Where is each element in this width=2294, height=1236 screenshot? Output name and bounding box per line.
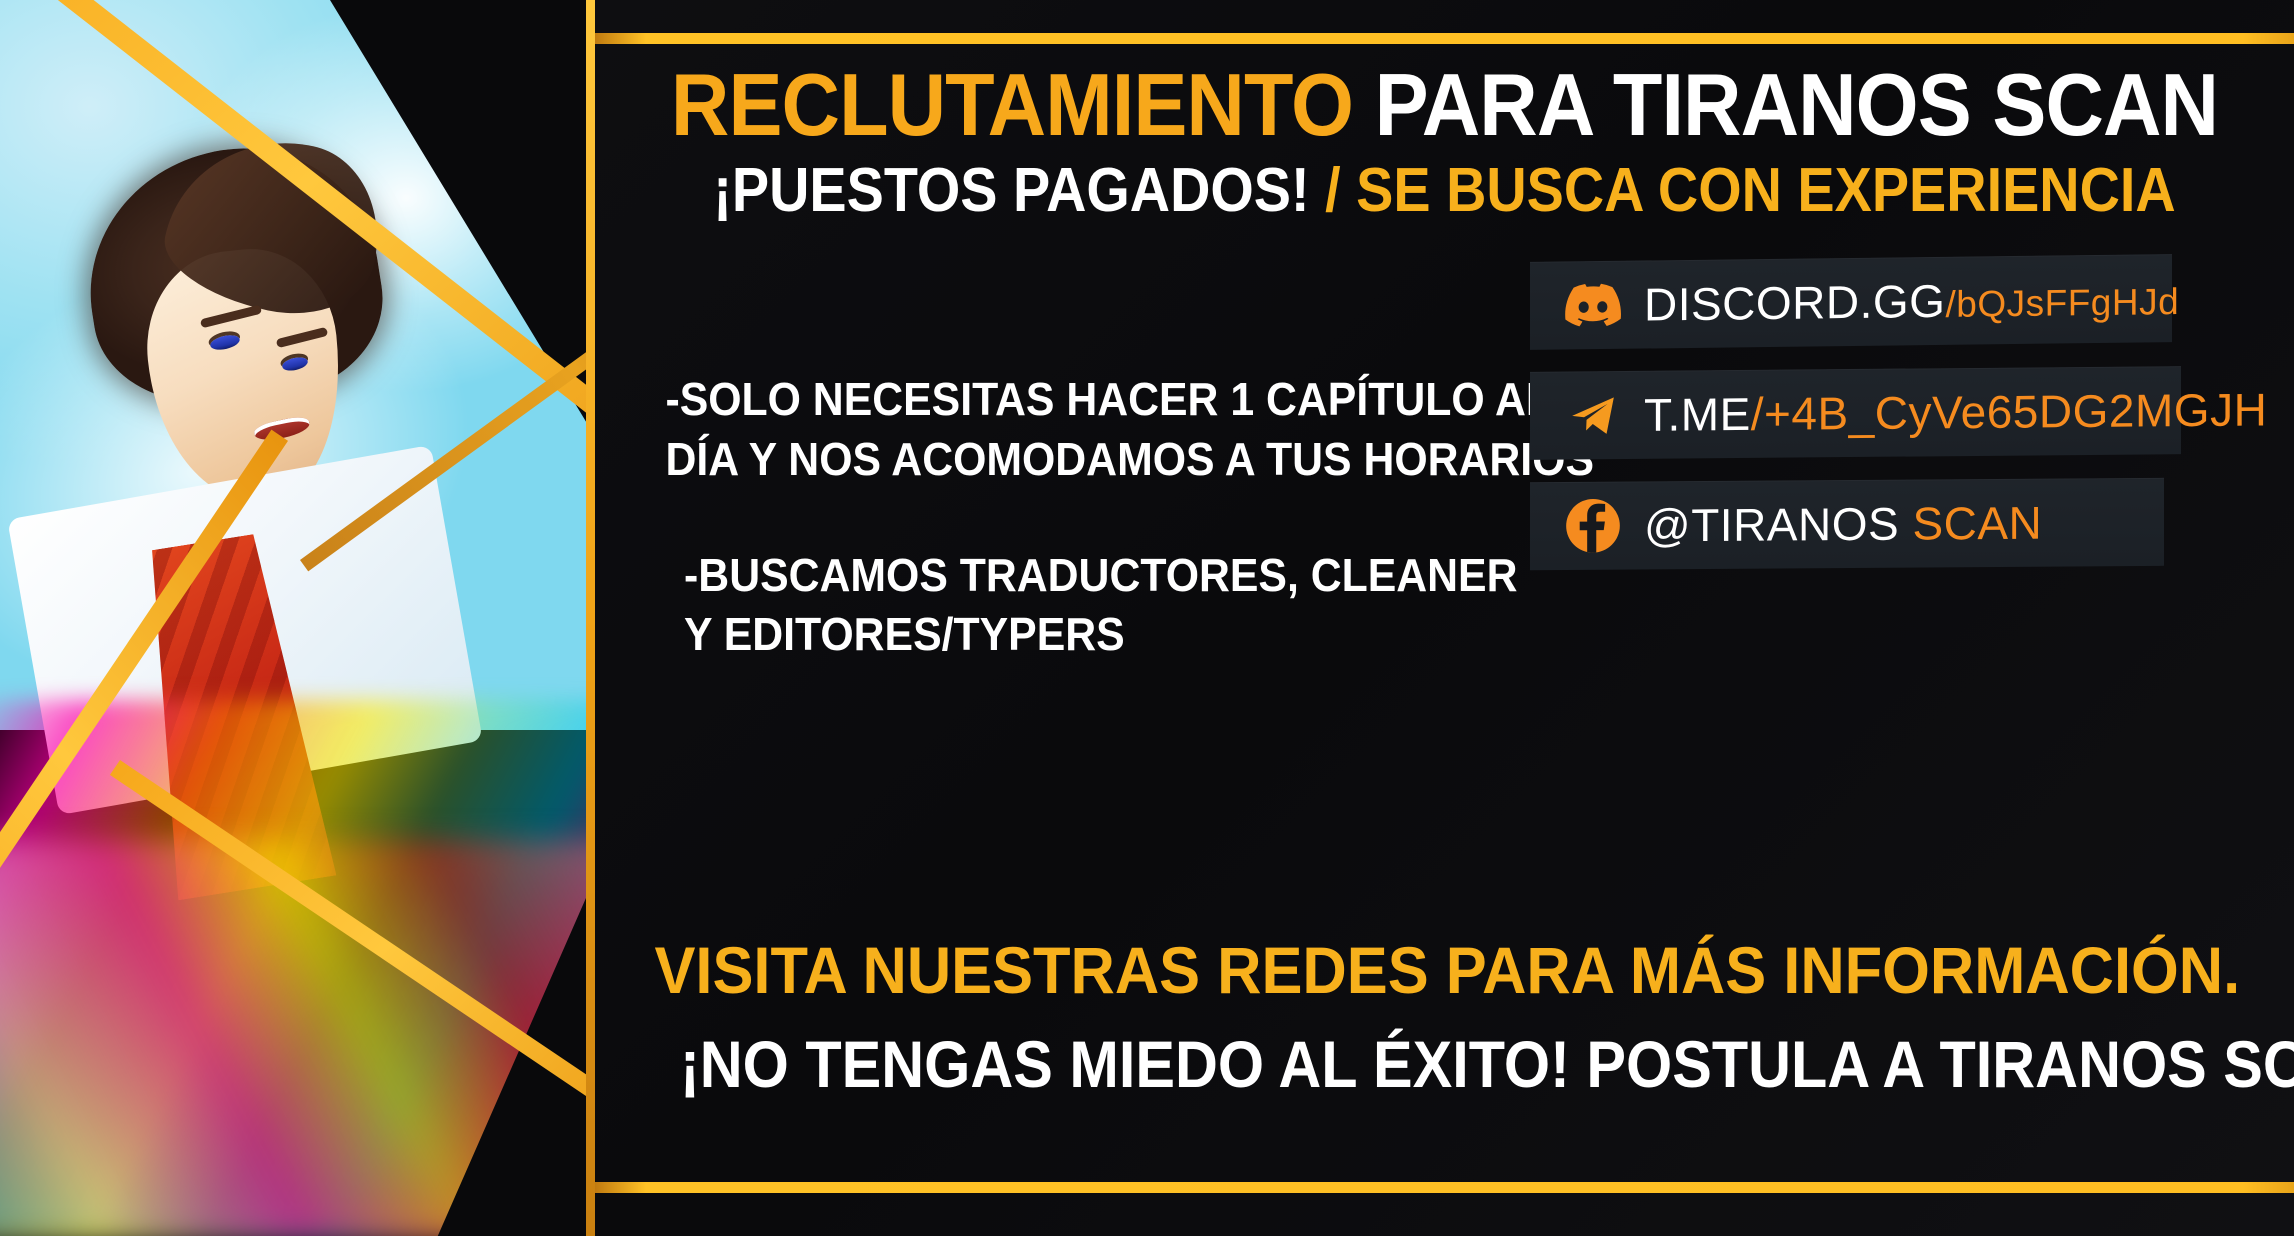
facebook-handle-suffix: SCAN	[1912, 497, 2042, 550]
requirements-list: -SOLO NECESITAS HACER 1 CAPÍTULO AL DÍA …	[665, 370, 1474, 721]
bullet-2-line-1: -BUSCAMOS TRADUCTORES, CLEANER	[684, 546, 1475, 606]
cta-line-2: ¡NO TENGAS MIEDO AL ÉXITO! POSTULA A TIR…	[680, 1025, 2209, 1104]
list-item: -SOLO NECESITAS HACER 1 CAPÍTULO AL DÍA …	[665, 370, 1474, 490]
discord-link-text: DISCORD.GG/bQJsFFgHJd	[1644, 271, 2179, 332]
facebook-handle-text: @TIRANOS SCAN	[1644, 496, 2042, 553]
gold-rule-top	[595, 33, 2294, 44]
list-item: -BUSCAMOS TRADUCTORES, CLEANER Y EDITORE…	[665, 546, 1474, 666]
contact-card-discord[interactable]: DISCORD.GG/bQJsFFgHJd	[1530, 254, 2172, 350]
call-to-action: VISITA NUESTRAS REDES PARA MÁS INFORMACI…	[595, 933, 2294, 1104]
discord-invite-code: /bQJsFFgHJd	[1945, 281, 2179, 325]
telegram-link-text: T.ME/+4B_CyVe65DG2MGJH	[1644, 382, 2267, 441]
artwork-panel	[0, 0, 640, 1236]
content-panel: RECLUTAMIENTO PARA TIRANOS SCAN ¡PUESTOS…	[595, 0, 2294, 1236]
facebook-handle: @TIRANOS	[1644, 498, 1899, 552]
gold-edge-vertical	[586, 0, 595, 1236]
page-title: RECLUTAMIENTO PARA TIRANOS SCAN	[663, 60, 2226, 150]
subtitle-accent: / SE BUSCA CON EXPERIENCIA	[1325, 156, 2176, 225]
bullet-1-line-1: -SOLO NECESITAS HACER 1 CAPÍTULO AL	[665, 370, 1474, 430]
recruitment-banner: RECLUTAMIENTO PARA TIRANOS SCAN ¡PUESTOS…	[0, 0, 2294, 1236]
contact-card-telegram[interactable]: T.ME/+4B_CyVe65DG2MGJH	[1530, 366, 2181, 460]
bullet-1-line-2: DÍA Y NOS ACOMODAMOS A TUS HORARIOS	[665, 430, 1474, 490]
bullet-2-line-2: Y EDITORES/TYPERS	[684, 605, 1475, 665]
telegram-icon	[1564, 386, 1622, 445]
gold-rule-bottom	[595, 1182, 2294, 1193]
subtitle-plain: ¡PUESTOS PAGADOS!	[713, 156, 1309, 225]
facebook-icon	[1564, 497, 1622, 555]
contact-card-facebook[interactable]: @TIRANOS SCAN	[1530, 478, 2164, 570]
telegram-invite-code: /+4B_CyVe65DG2MGJH	[1751, 383, 2268, 440]
page-subtitle: ¡PUESTOS PAGADOS! / SE BUSCA CON EXPERIE…	[680, 158, 2209, 223]
discord-icon	[1564, 276, 1622, 335]
cta-line-1: VISITA NUESTRAS REDES PARA MÁS INFORMACI…	[654, 933, 2234, 1009]
title-accent: RECLUTAMIENTO	[671, 55, 1353, 154]
contact-card-list: DISCORD.GG/bQJsFFgHJd T.ME/+4B_CyVe65DG2…	[1530, 258, 2170, 591]
telegram-domain: T.ME	[1644, 388, 1751, 441]
title-plain: PARA TIRANOS SCAN	[1375, 55, 2218, 154]
discord-domain: DISCORD.GG	[1644, 275, 1945, 331]
